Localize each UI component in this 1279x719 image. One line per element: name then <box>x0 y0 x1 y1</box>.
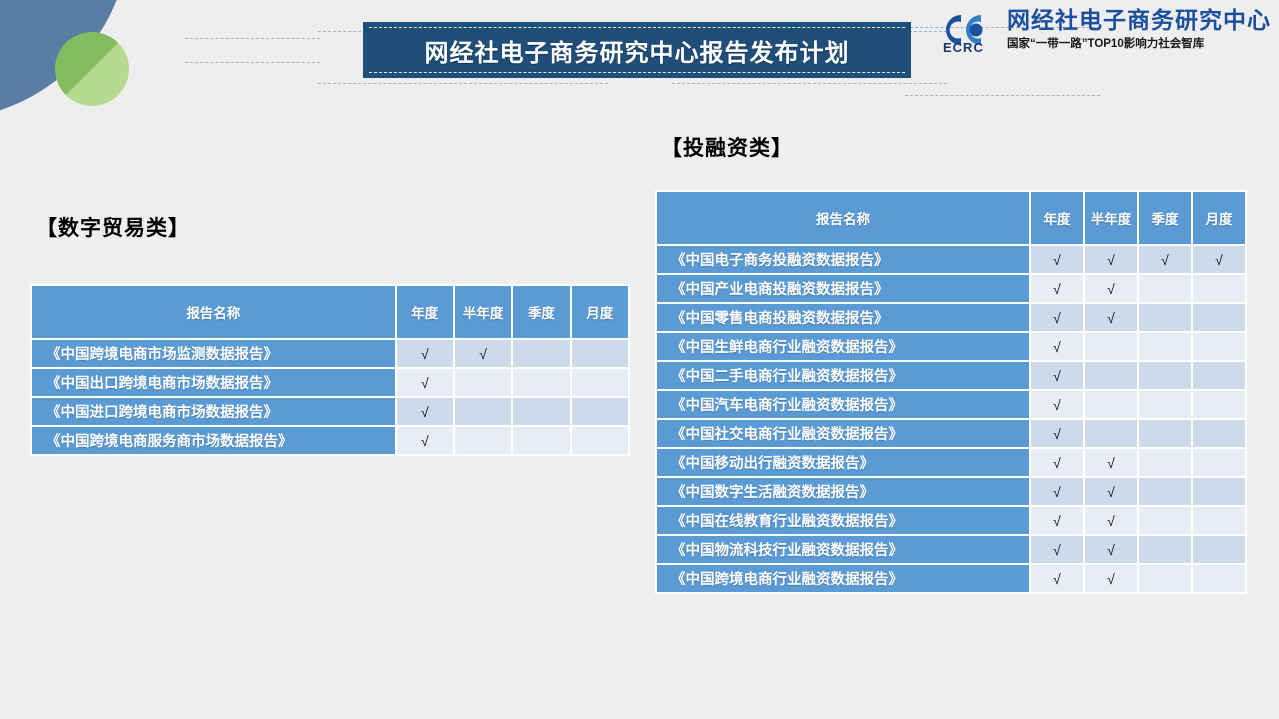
col-header-semiannual: 半年度 <box>1085 192 1137 244</box>
col-header-semiannual: 半年度 <box>455 286 511 338</box>
decorative-dashed-line <box>185 38 320 39</box>
table-header-row: 报告名称 年度 半年度 季度 月度 <box>657 192 1245 244</box>
ecrc-logo-icon: ECRC <box>929 7 1003 53</box>
table-header-row: 报告名称 年度 半年度 季度 月度 <box>32 286 628 338</box>
report-name-cell: 《中国零售电商投融资数据报告》 <box>657 304 1029 331</box>
frequency-cell-quarterly <box>513 427 569 454</box>
report-name-cell: 《中国出口跨境电商市场数据报告》 <box>32 369 395 396</box>
ecrc-logo-abbr: ECRC <box>943 40 984 55</box>
frequency-cell-monthly <box>572 340 628 367</box>
report-name-cell: 《中国跨境电商服务商市场数据报告》 <box>32 427 395 454</box>
report-name-cell: 《中国汽车电商行业融资数据报告》 <box>657 391 1029 418</box>
decorative-dashed-line <box>672 83 947 84</box>
frequency-cell-quarterly <box>513 398 569 425</box>
frequency-cell-monthly <box>1193 449 1245 476</box>
table-row: 《中国跨境电商市场监测数据报告》√√ <box>32 340 628 367</box>
frequency-cell-semiannual <box>455 398 511 425</box>
table-row: 《中国零售电商投融资数据报告》√√ <box>657 304 1245 331</box>
frequency-cell-semiannual: √ <box>1085 565 1137 592</box>
frequency-cell-annual: √ <box>1031 565 1083 592</box>
frequency-cell-annual: √ <box>1031 449 1083 476</box>
frequency-cell-semiannual <box>455 369 511 396</box>
frequency-cell-annual: √ <box>397 398 453 425</box>
frequency-cell-semiannual: √ <box>1085 449 1137 476</box>
frequency-cell-quarterly <box>1139 304 1191 331</box>
frequency-cell-semiannual <box>1085 420 1137 447</box>
table-row: 《中国数字生活融资数据报告》√√ <box>657 478 1245 505</box>
section-investment-financing: 【投融资类】 报告名称 年度 半年度 季度 月度 《中国电子商务投融资数据报告》… <box>655 132 1255 594</box>
decorative-dashed-line <box>905 95 1100 96</box>
frequency-cell-annual: √ <box>1031 391 1083 418</box>
table-row: 《中国生鲜电商行业融资数据报告》√ <box>657 333 1245 360</box>
frequency-cell-monthly <box>1193 536 1245 563</box>
table-row: 《中国社交电商行业融资数据报告》√ <box>657 420 1245 447</box>
frequency-cell-quarterly <box>1139 478 1191 505</box>
ecrc-logo-tagline: 国家“一带一路”TOP10影响力社会智库 <box>1007 35 1271 51</box>
decorative-dashed-line <box>318 83 608 84</box>
report-name-cell: 《中国移动出行融资数据报告》 <box>657 449 1029 476</box>
report-name-cell: 《中国生鲜电商行业融资数据报告》 <box>657 333 1029 360</box>
frequency-cell-semiannual <box>455 427 511 454</box>
frequency-cell-quarterly <box>513 369 569 396</box>
frequency-cell-quarterly <box>1139 391 1191 418</box>
table-row: 《中国电子商务投融资数据报告》√√√√ <box>657 246 1245 273</box>
frequency-cell-annual: √ <box>1031 507 1083 534</box>
frequency-cell-monthly <box>1193 391 1245 418</box>
table-row: 《中国跨境电商服务商市场数据报告》√ <box>32 427 628 454</box>
frequency-cell-annual: √ <box>397 427 453 454</box>
frequency-cell-annual: √ <box>1031 420 1083 447</box>
slide-header: 网经社电子商务研究中心报告发布计划 ECRC 网经社电子商务研究中心 国家“一带… <box>0 0 1279 118</box>
digital-trade-table-body: 《中国跨境电商市场监测数据报告》√√《中国出口跨境电商市场数据报告》√《中国进口… <box>32 340 628 454</box>
col-header-annual: 年度 <box>1031 192 1083 244</box>
table-row: 《中国物流科技行业融资数据报告》√√ <box>657 536 1245 563</box>
page-title: 网经社电子商务研究中心报告发布计划 <box>425 33 850 68</box>
frequency-cell-monthly <box>572 398 628 425</box>
frequency-cell-quarterly <box>513 340 569 367</box>
digital-trade-table: 报告名称 年度 半年度 季度 月度 《中国跨境电商市场监测数据报告》√√《中国出… <box>30 284 630 456</box>
report-name-cell: 《中国数字生活融资数据报告》 <box>657 478 1029 505</box>
frequency-cell-annual: √ <box>1031 333 1083 360</box>
frequency-cell-monthly <box>1193 333 1245 360</box>
frequency-cell-monthly <box>1193 304 1245 331</box>
table-row: 《中国移动出行融资数据报告》√√ <box>657 449 1245 476</box>
frequency-cell-semiannual <box>1085 333 1137 360</box>
col-header-monthly: 月度 <box>572 286 628 338</box>
col-header-report-name: 报告名称 <box>657 192 1029 244</box>
frequency-cell-monthly <box>1193 565 1245 592</box>
frequency-cell-quarterly <box>1139 275 1191 302</box>
frequency-cell-annual: √ <box>1031 478 1083 505</box>
report-name-cell: 《中国二手电商行业融资数据报告》 <box>657 362 1029 389</box>
frequency-cell-quarterly <box>1139 333 1191 360</box>
report-name-cell: 《中国物流科技行业融资数据报告》 <box>657 536 1029 563</box>
frequency-cell-semiannual: √ <box>1085 507 1137 534</box>
col-header-annual: 年度 <box>397 286 453 338</box>
table-row: 《中国产业电商投融资数据报告》√√ <box>657 275 1245 302</box>
table-row: 《中国汽车电商行业融资数据报告》√ <box>657 391 1245 418</box>
section-title: 【投融资类】 <box>661 132 1255 162</box>
frequency-cell-semiannual: √ <box>1085 536 1137 563</box>
frequency-cell-monthly <box>572 427 628 454</box>
frequency-cell-quarterly <box>1139 536 1191 563</box>
frequency-cell-annual: √ <box>397 369 453 396</box>
frequency-cell-semiannual: √ <box>1085 478 1137 505</box>
frequency-cell-quarterly <box>1139 565 1191 592</box>
investment-financing-table-body: 《中国电子商务投融资数据报告》√√√√《中国产业电商投融资数据报告》√√《中国零… <box>657 246 1245 592</box>
frequency-cell-monthly <box>1193 507 1245 534</box>
frequency-cell-annual: √ <box>1031 536 1083 563</box>
frequency-cell-quarterly <box>1139 362 1191 389</box>
report-name-cell: 《中国跨境电商市场监测数据报告》 <box>32 340 395 367</box>
frequency-cell-annual: √ <box>1031 275 1083 302</box>
decorative-dashed-line <box>185 62 320 63</box>
frequency-cell-monthly <box>1193 275 1245 302</box>
frequency-cell-monthly <box>1193 362 1245 389</box>
ecrc-logo: ECRC 网经社电子商务研究中心 国家“一带一路”TOP10影响力社会智库 <box>929 4 1271 56</box>
frequency-cell-monthly <box>1193 478 1245 505</box>
frequency-cell-annual: √ <box>1031 304 1083 331</box>
slide-title-box: 网经社电子商务研究中心报告发布计划 <box>363 22 911 78</box>
table-row: 《中国进口跨境电商市场数据报告》√ <box>32 398 628 425</box>
frequency-cell-annual: √ <box>1031 362 1083 389</box>
report-name-cell: 《中国社交电商行业融资数据报告》 <box>657 420 1029 447</box>
section-title: 【数字贸易类】 <box>36 212 630 242</box>
frequency-cell-semiannual: √ <box>1085 304 1137 331</box>
table-row: 《中国跨境电商行业融资数据报告》√√ <box>657 565 1245 592</box>
frequency-cell-monthly <box>572 369 628 396</box>
report-name-cell: 《中国跨境电商行业融资数据报告》 <box>657 565 1029 592</box>
frequency-cell-semiannual: √ <box>1085 275 1137 302</box>
frequency-cell-semiannual: √ <box>455 340 511 367</box>
col-header-monthly: 月度 <box>1193 192 1245 244</box>
frequency-cell-annual: √ <box>397 340 453 367</box>
frequency-cell-annual: √ <box>1031 246 1083 273</box>
section-digital-trade: 【数字贸易类】 报告名称 年度 半年度 季度 月度 《中国跨境电商市场监测数据报… <box>30 212 630 456</box>
table-row: 《中国在线教育行业融资数据报告》√√ <box>657 507 1245 534</box>
frequency-cell-semiannual: √ <box>1085 246 1137 273</box>
frequency-cell-quarterly <box>1139 507 1191 534</box>
col-header-quarterly: 季度 <box>1139 192 1191 244</box>
frequency-cell-quarterly <box>1139 449 1191 476</box>
report-name-cell: 《中国在线教育行业融资数据报告》 <box>657 507 1029 534</box>
report-name-cell: 《中国电子商务投融资数据报告》 <box>657 246 1029 273</box>
col-header-quarterly: 季度 <box>513 286 569 338</box>
investment-financing-table: 报告名称 年度 半年度 季度 月度 《中国电子商务投融资数据报告》√√√√《中国… <box>655 190 1247 594</box>
ecrc-logo-name: 网经社电子商务研究中心 <box>1007 9 1271 33</box>
frequency-cell-semiannual <box>1085 391 1137 418</box>
frequency-cell-quarterly <box>1139 420 1191 447</box>
report-name-cell: 《中国进口跨境电商市场数据报告》 <box>32 398 395 425</box>
frequency-cell-monthly: √ <box>1193 246 1245 273</box>
table-row: 《中国二手电商行业融资数据报告》√ <box>657 362 1245 389</box>
frequency-cell-monthly <box>1193 420 1245 447</box>
report-name-cell: 《中国产业电商投融资数据报告》 <box>657 275 1029 302</box>
table-row: 《中国出口跨境电商市场数据报告》√ <box>32 369 628 396</box>
frequency-cell-quarterly: √ <box>1139 246 1191 273</box>
col-header-report-name: 报告名称 <box>32 286 395 338</box>
frequency-cell-semiannual <box>1085 362 1137 389</box>
